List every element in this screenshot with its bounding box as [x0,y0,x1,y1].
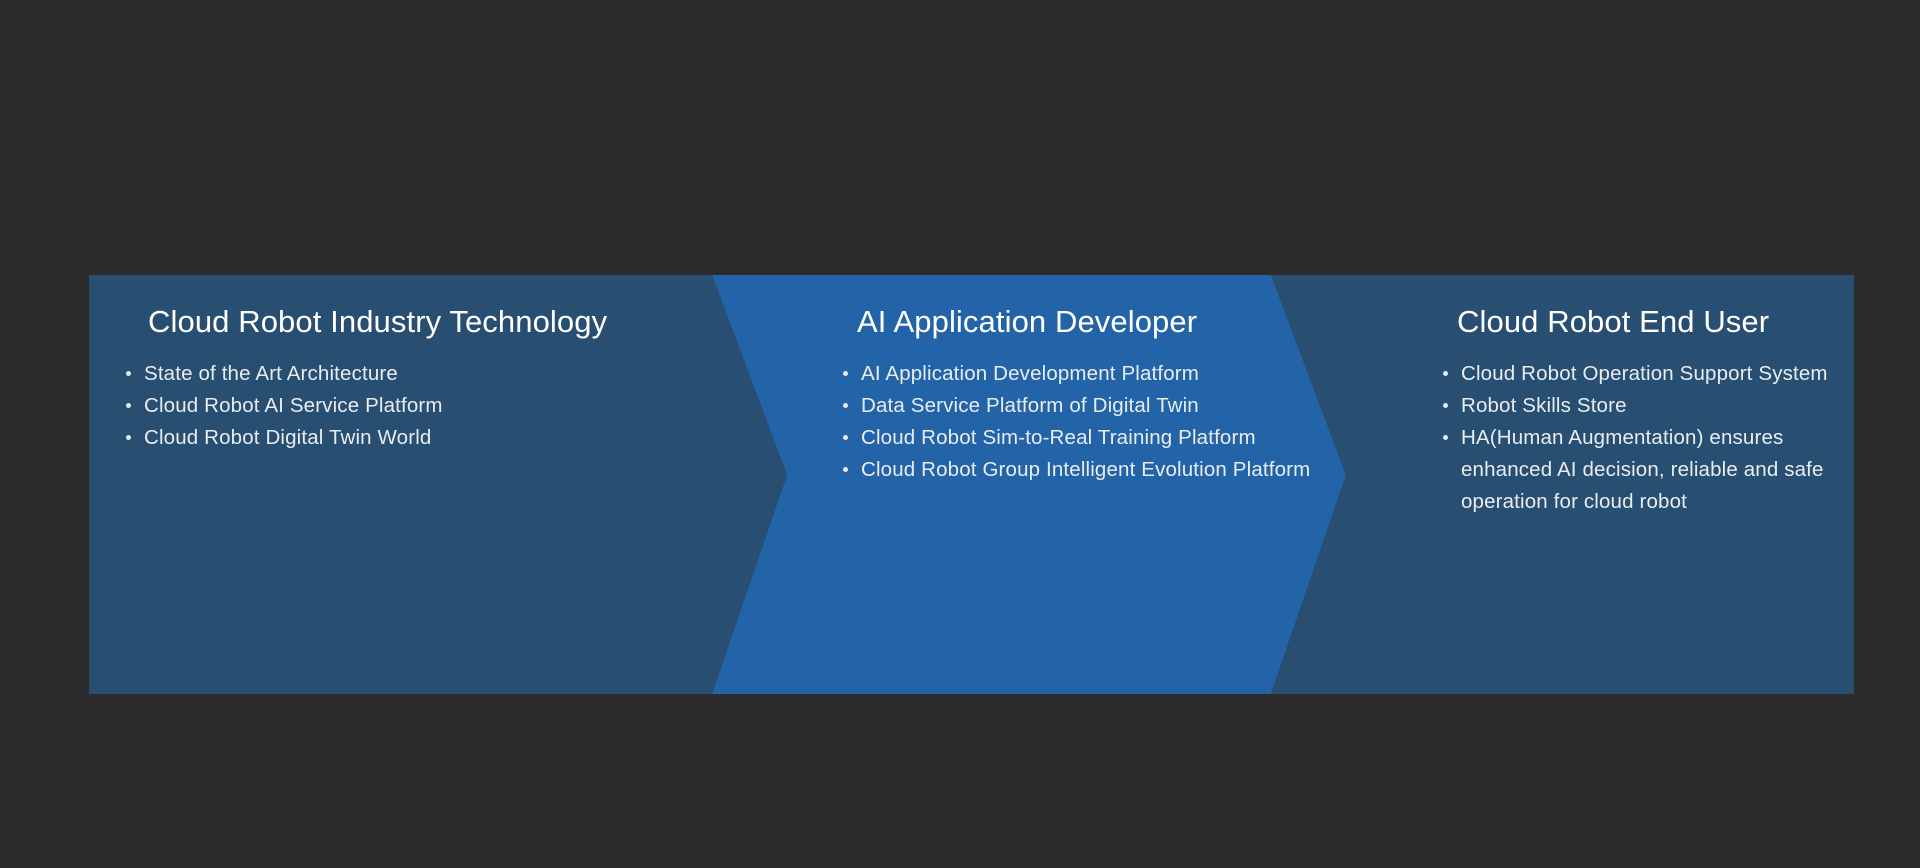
panel-cloud-robot-end-user: Cloud Robot End User Cloud Robot Operati… [1347,275,1854,694]
panel-3-bullet-list: Cloud Robot Operation Support System Rob… [1439,358,1859,518]
list-item-label: Data Service Platform of Digital Twin [861,394,1199,417]
panel-ai-application-developer: AI Application Developer AI Application … [729,275,1369,694]
list-item: Cloud Robot Operation Support System [1439,358,1861,390]
list-item: Cloud Robot Group Intelligent Evolution … [839,454,1339,486]
list-item-label: Robot Skills Store [1461,394,1627,417]
bullet-dot-icon [1443,435,1448,440]
list-item: HA(Human Augmentation) ensures enhanced … [1439,422,1861,518]
bullet-dot-icon [126,403,131,408]
list-item-label: Cloud Robot Sim-to-Real Training Platfor… [861,426,1256,449]
list-item-label: AI Application Development Platform [861,362,1199,385]
list-item-label: Cloud Robot Operation Support System [1461,362,1828,385]
bullet-dot-icon [1443,371,1448,376]
list-item-label: Cloud Robot Digital Twin World [144,426,431,449]
list-item: Data Service Platform of Digital Twin [839,390,1339,422]
panel-cloud-robot-industry-technology: Cloud Robot Industry Technology State of… [89,275,789,694]
list-item-label: State of the Art Architecture [144,362,398,385]
list-item: Cloud Robot Digital Twin World [122,422,682,454]
bullet-dot-icon [843,467,848,472]
panel-3-heading: Cloud Robot End User [1457,306,1769,337]
chevron-process-diagram: Cloud Robot Industry Technology State of… [89,275,1854,694]
panel-1-heading: Cloud Robot Industry Technology [148,306,607,337]
list-item: Cloud Robot AI Service Platform [122,390,682,422]
list-item-label: Cloud Robot Group Intelligent Evolution … [861,458,1310,481]
bullet-dot-icon [1443,403,1448,408]
panel-2-bullet-list: AI Application Development Platform Data… [839,358,1339,486]
list-item-label: HA(Human Augmentation) ensures enhanced … [1461,426,1824,513]
list-item: AI Application Development Platform [839,358,1339,390]
bullet-dot-icon [843,403,848,408]
list-item: Cloud Robot Sim-to-Real Training Platfor… [839,422,1339,454]
panel-2-heading: AI Application Developer [857,306,1197,337]
list-item-label: Cloud Robot AI Service Platform [144,394,443,417]
bullet-dot-icon [126,371,131,376]
bullet-dot-icon [843,435,848,440]
bullet-dot-icon [126,435,131,440]
bullet-dot-icon [843,371,848,376]
list-item: Robot Skills Store [1439,390,1861,422]
list-item: State of the Art Architecture [122,358,682,390]
panel-1-bullet-list: State of the Art Architecture Cloud Robo… [122,358,682,454]
